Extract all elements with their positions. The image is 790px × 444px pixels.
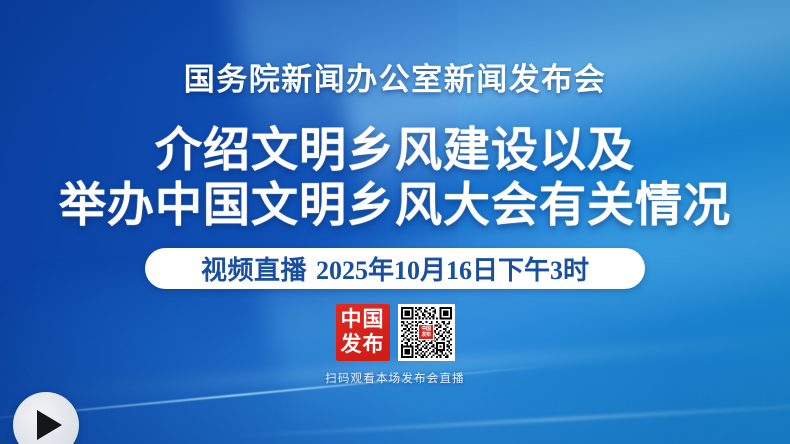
- headline-line-2: 举办中国文明乡风大会有关情况: [59, 177, 731, 232]
- brand-logo-line-1: 中国: [341, 307, 385, 332]
- broadcast-info-pill: 视频直播 2025年10月16日下午3时: [145, 248, 645, 289]
- play-icon: [37, 410, 62, 440]
- scan-caption: 扫码观看本场发布会直播: [325, 370, 465, 386]
- press-conference-poster: 国务院新闻办公室新闻发布会 介绍文明乡风建设以及 举办中国文明乡风大会有关情况 …: [0, 0, 790, 444]
- brand-logo: 中国 发布: [336, 304, 390, 361]
- headline-line-1: 介绍文明乡风建设以及: [59, 122, 731, 177]
- qr-center-brand-logo: 中国 发布: [418, 324, 434, 340]
- brand-and-qr-block: 中国 发布: [336, 304, 455, 361]
- qr-center-line-2: 发布: [421, 332, 430, 338]
- brand-logo-line-2: 发布: [341, 332, 385, 357]
- headline: 介绍文明乡风建设以及 举办中国文明乡风大会有关情况: [59, 122, 731, 233]
- broadcast-datetime: 2025年10月16日下午3时: [316, 250, 589, 287]
- broadcast-label: 视频直播: [201, 250, 307, 287]
- kicker-title: 国务院新闻办公室新闻发布会: [184, 62, 607, 98]
- poster-content: 国务院新闻办公室新闻发布会 介绍文明乡风建设以及 举办中国文明乡风大会有关情况 …: [0, 0, 790, 444]
- qr-code[interactable]: 中国 发布: [398, 304, 455, 361]
